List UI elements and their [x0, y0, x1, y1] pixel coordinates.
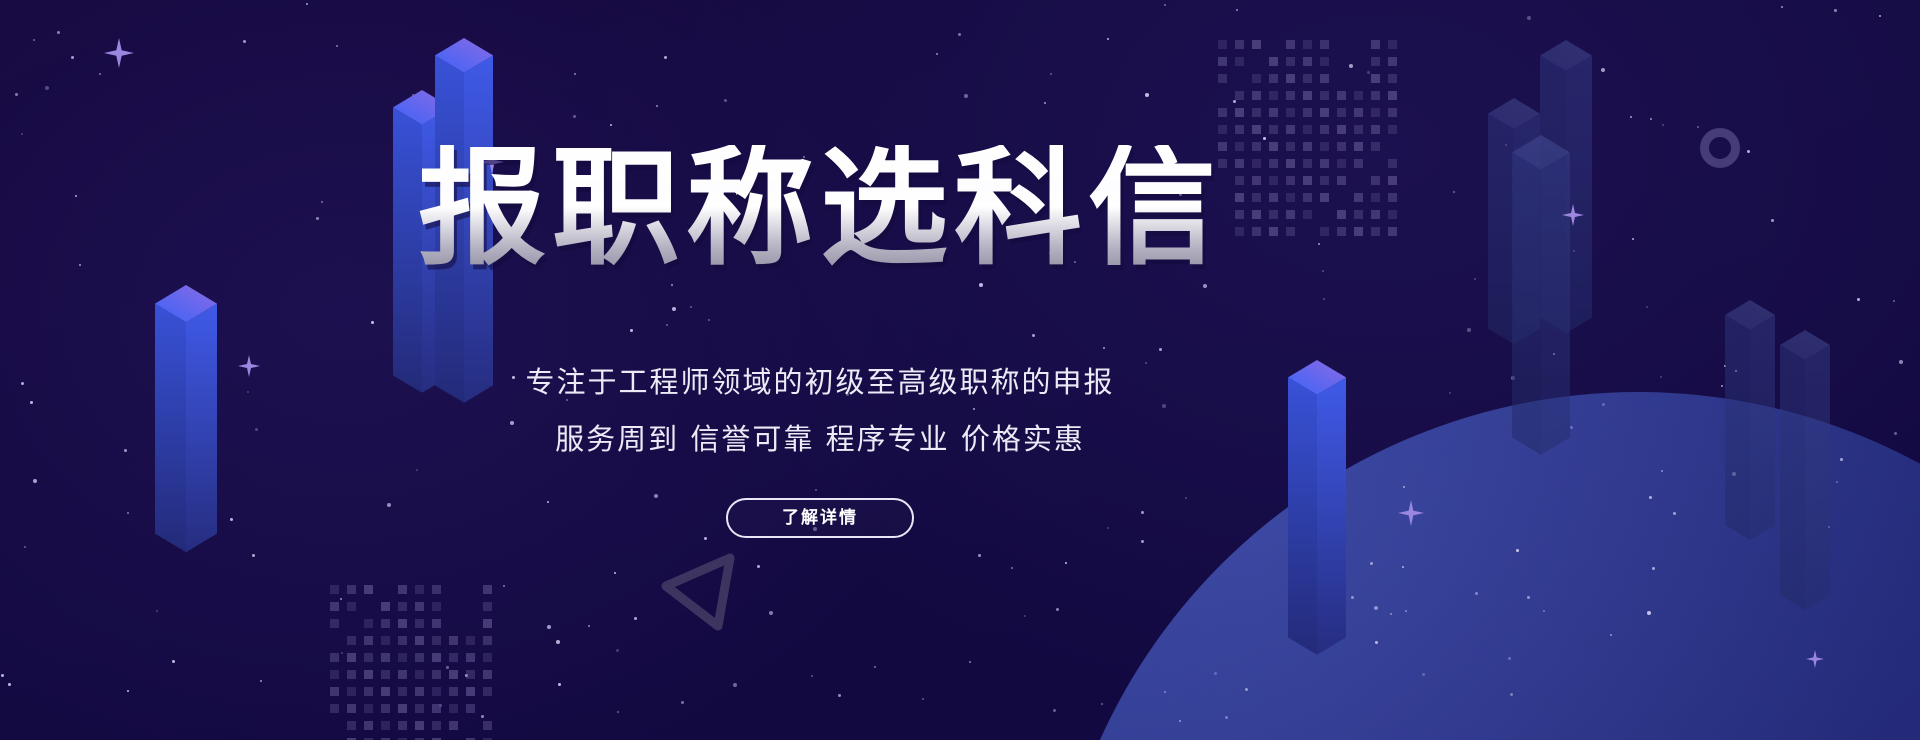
star-dot: [724, 99, 727, 102]
star-dot: [24, 546, 26, 548]
triangle-outline-icon: [660, 548, 744, 632]
star-dot: [503, 585, 505, 587]
star-dot: [1573, 250, 1575, 252]
star-dot: [769, 611, 773, 615]
star-dot: [1721, 385, 1723, 387]
star-dot: [1857, 298, 1860, 301]
star-dot: [922, 698, 924, 700]
star-dot: [260, 680, 262, 682]
star-dot: [1650, 118, 1652, 120]
star-dot: [1053, 709, 1056, 712]
star-dot: [1233, 100, 1236, 103]
star-dot: [838, 694, 841, 697]
star-dot: [412, 94, 414, 96]
star-dot: [634, 617, 637, 620]
star-dot: [127, 690, 129, 692]
star-dot: [614, 572, 616, 574]
star-dot: [811, 675, 813, 677]
star-dot: [1050, 73, 1052, 75]
ring-icon: [1700, 128, 1740, 168]
star-dot: [1834, 9, 1837, 12]
star-dot: [1646, 306, 1648, 308]
star-dot: [446, 666, 449, 669]
star-dot: [1044, 102, 1046, 104]
star-dot: [1879, 15, 1881, 17]
star-dot: [1367, 71, 1370, 74]
star-dot: [1662, 124, 1664, 126]
star-dot: [656, 105, 658, 107]
learn-more-button[interactable]: 了解详情: [726, 498, 914, 538]
star-dot: [439, 704, 442, 707]
star-dot: [1894, 432, 1897, 435]
star-dot: [617, 711, 619, 713]
star-dot: [1349, 64, 1353, 68]
star-dot: [1011, 567, 1013, 569]
star-dot: [21, 382, 24, 385]
star-dot: [1893, 300, 1895, 302]
star-dot: [1771, 219, 1774, 222]
star-dot: [99, 73, 101, 75]
pillar-faded-b: [1540, 40, 1592, 333]
star-dot: [306, 3, 308, 5]
star-dot: [936, 53, 938, 55]
star-dot: [341, 652, 343, 654]
star-dot: [1056, 608, 1059, 611]
star-dot: [1724, 365, 1726, 367]
star-dot: [465, 674, 468, 677]
star-dot: [243, 40, 246, 43]
star-dot: [1747, 150, 1750, 153]
subtitle-line-1: 专注于工程师领域的初级至高级职称的申报: [120, 368, 1520, 397]
star-dot: [874, 666, 876, 668]
star-dot: [1697, 126, 1699, 128]
star-dot: [33, 39, 35, 41]
star-dot: [30, 401, 33, 404]
star-dot: [616, 649, 619, 652]
star-dot: [1632, 238, 1634, 240]
star-dot: [79, 264, 81, 266]
star-dot: [733, 683, 737, 687]
star-dot: [1660, 376, 1662, 378]
star-dot: [573, 115, 576, 118]
star-dot: [664, 56, 667, 59]
star-dot: [588, 625, 590, 627]
star-dot: [757, 565, 760, 568]
star-dot: [1527, 16, 1531, 20]
page-title: 报职称选科信: [120, 145, 1520, 273]
star-dot: [1601, 68, 1605, 72]
star-dot: [45, 86, 49, 90]
star-dot: [1141, 540, 1144, 543]
star-dot: [1236, 9, 1238, 11]
star-dot: [1781, 6, 1783, 8]
star-dot: [340, 598, 342, 600]
star-dot: [1899, 360, 1903, 364]
star-dot: [75, 195, 77, 197]
star-dot: [1164, 4, 1166, 6]
cta-container: 了解详情: [120, 498, 1520, 538]
star-dot: [547, 625, 551, 629]
star-dot: [978, 554, 981, 557]
star-dot: [1107, 38, 1109, 40]
star-dot: [1145, 93, 1149, 97]
star-dot: [1263, 137, 1266, 140]
star-dot: [964, 94, 968, 98]
star-dot: [33, 479, 37, 483]
star-dot: [1735, 370, 1737, 372]
star-dot: [610, 124, 612, 126]
star-dot: [969, 661, 971, 663]
star-dot: [681, 701, 684, 704]
star-dot: [252, 554, 255, 557]
star-dot: [336, 45, 338, 47]
subtitle-line-2: 服务周到 信誉可靠 程序专业 价格实惠: [120, 425, 1520, 454]
star-dot: [1553, 353, 1555, 355]
star-dot: [481, 715, 484, 718]
star-dot: [958, 33, 961, 36]
hero-content: 报职称选科信 专注于工程师领域的初级至高级职称的申报 服务周到 信誉可靠 程序专…: [120, 145, 1520, 538]
hero-banner: 报职称选科信 专注于工程师领域的初级至高级职称的申报 服务周到 信誉可靠 程序专…: [0, 0, 1920, 740]
star-dot: [1024, 615, 1026, 617]
star-dot: [172, 660, 175, 663]
star-dot: [1, 674, 4, 677]
star-dot: [57, 31, 60, 34]
sparkle-star-icon: [104, 38, 134, 68]
star-dot: [574, 73, 576, 75]
star-dot: [556, 640, 560, 644]
star-dot: [21, 133, 23, 135]
star-dot: [8, 683, 11, 686]
star-dot: [558, 683, 561, 686]
star-dot: [1065, 562, 1067, 564]
sparkle-star-icon: [1562, 204, 1584, 226]
star-dot: [15, 93, 18, 96]
star-dot: [71, 56, 74, 59]
star-dot: [1101, 703, 1103, 705]
star-dot: [156, 610, 158, 612]
star-dot: [1630, 116, 1632, 118]
